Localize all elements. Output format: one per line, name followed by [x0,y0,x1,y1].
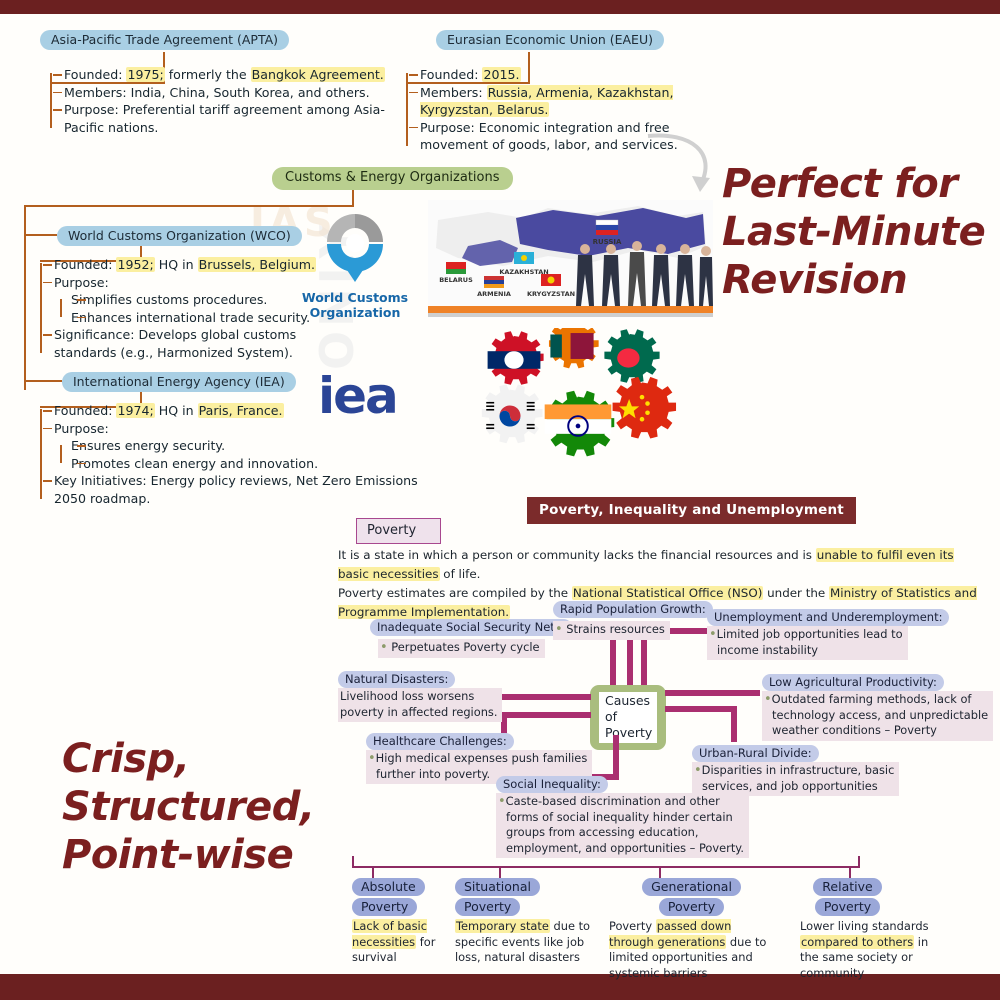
customs-energy-left-rail [24,205,26,390]
iea-line-key-initiatives: Key Initiatives: Energy policy reviews, … [54,472,420,507]
cause-label-unemployment: Unemployment and Underemployment: [707,609,949,626]
iea-vertical-rail [40,409,42,499]
top-border-bar [0,0,1000,14]
mindmap-line-healthcare-h [501,712,591,718]
wco-logo-image: World Customs Organization [292,212,418,324]
apta-flag-gears-image [452,328,682,476]
type-desc-situational: Temporary state due to specific events l… [455,919,595,966]
apta-line-purpose: Purpose: Preferential tariff agreement a… [64,101,400,136]
type-desc-absolute: Lack of basic necessities for survival [352,919,472,966]
eaeu-line-founded: Founded: 2015. [420,66,720,84]
type-title-situational-l1: Situational [455,878,540,896]
apta-former-name: Bangkok Agreement. [251,67,385,82]
bullet-icon: • [555,622,563,637]
center-node-line-1: Causes of [605,693,651,725]
customs-energy-horizontal [24,205,354,207]
org-block-apta: Asia-Pacific Trade Agreement (APTA) Foun… [40,30,400,136]
iea-title-pill: International Energy Agency (IEA) [62,371,296,392]
eaeu-title-pill: Eurasian Economic Union (EAEU) [436,30,720,50]
poverty-tag-label: Poverty [367,523,416,538]
cause-body-low-agri: •Outdated farming methods, lack of techn… [762,691,993,741]
bullet-icon: • [380,640,388,655]
apta-line-founded: Founded: 1975; formerly the Bangkok Agre… [64,66,400,84]
iea-title-label: International Energy Agency (IEA) [62,372,296,392]
iea-logo-image: iea [318,370,430,422]
eaeu-title-label: Eurasian Economic Union (EAEU) [436,30,664,50]
type-title-relative-l2: Poverty [815,898,880,916]
type-desc-relative: Lower living standards compared to other… [800,919,950,981]
eaeu-map-graphic: RUSSIA BELARUS KAZAKHSTAN ARMENIA KRYGYZ… [428,200,713,318]
slogan-tr-line-1: Perfect for [722,160,992,208]
types-bus-right-cap [858,856,860,867]
cause-unemployment-and-underemployment: Unemployment and Underemployment: •Limit… [707,606,949,660]
svg-text:ARMENIA: ARMENIA [477,290,511,298]
poverty-type-absolute: Absolute Poverty Lack of basic necessiti… [352,876,472,966]
cause-body-rapid-population: • Strains resources [553,621,670,640]
slogan-last-minute-revision: Perfect for Last-Minute Revision [722,160,992,304]
types-bus-horizontal [352,866,860,868]
wco-branch-horizontal [24,234,57,236]
mindmap-line-natural-disasters [488,694,591,700]
customs-energy-header-label: Customs & Energy Organizations [272,167,513,190]
bullet-icon: • [709,627,717,642]
wco-logo-line-2: Organization [292,305,418,320]
type-desc-situational-highlight: Temporary state [455,919,550,933]
cause-social-inequality: Social Inequality: •Caste-based discrimi… [496,773,749,858]
cause-label-healthcare: Healthcare Challenges: [366,733,514,750]
type-title-generational-l2: Poverty [659,898,724,916]
poverty-definition-p1: It is a state in which a person or commu… [338,546,986,584]
poverty-type-relative: Relative Poverty Lower living standards … [800,876,950,981]
poverty-type-situational: Situational Poverty Temporary state due … [455,876,595,966]
cause-low-agricultural-productivity: Low Agricultural Productivity: •Outdated… [762,671,993,741]
slogan-tr-line-2: Last-Minute [722,208,992,256]
apta-founded-year: 1975; [126,67,164,82]
bullet-icon: • [368,751,376,766]
apta-gears-graphic [452,328,682,476]
mindmap-line-low-agri [665,690,760,696]
eaeu-map-photo: RUSSIA BELARUS KAZAKHSTAN ARMENIA KRYGYZ… [428,200,713,318]
cause-body-inadequate: • Perpetuates Poverty cycle [378,639,545,658]
center-node-line-2: Poverty [605,725,651,741]
type-desc-generational: Poverty passed down through generations … [609,919,774,981]
iea-founded-year: 1974; [116,403,154,418]
curved-arrow-icon [640,130,730,200]
apta-title-pill: Asia-Pacific Trade Agreement (APTA) [40,30,400,50]
svg-text:RUSSIA: RUSSIA [593,238,622,246]
cause-label-urban-rural: Urban-Rural Divide: [692,745,819,762]
slogan-tr-line-3: Revision [722,256,992,304]
svg-text:KRYGYZSTAN: KRYGYZSTAN [527,290,575,298]
causes-of-poverty-center-node: Causes of Poverty [590,685,666,750]
cause-body-social-inequality: •Caste-based discrimination and other fo… [496,793,749,858]
customs-energy-header: Customs & Energy Organizations [272,166,513,190]
wco-title-pill: World Customs Organization (WCO) [57,225,302,246]
wco-founded-year: 1952; [116,257,154,272]
eaeu-founded-year: 2015. [482,67,520,82]
eaeu-line-members: Members: Russia, Armenia, Kazakhstan, Ky… [420,84,720,119]
poverty-tag-box: Poverty [356,518,441,544]
types-bus-left-cap [352,856,354,867]
iea-hq: Paris, France. [198,403,284,418]
customs-energy-stem [352,190,354,206]
cause-natural-disasters: Natural Disasters: Livelihood loss worse… [338,668,502,722]
poverty-section-banner: Poverty, Inequality and Unemployment [527,497,856,524]
bullet-icon: • [764,692,772,707]
type-title-generational-l1: Generational [642,878,741,896]
cause-body-natural-disasters: Livelihood loss worsens poverty in affec… [338,688,502,722]
apta-detail-lines: Founded: 1975; formerly the Bangkok Agre… [50,66,400,136]
poverty-type-generational: Generational Poverty Poverty passed down… [609,876,774,981]
type-title-situational-l2: Poverty [455,898,520,916]
mindmap-line-urban-rural-v [731,706,737,742]
wco-line-significance: Significance: Develops global customs st… [54,326,350,361]
mindmap-line-urban-rural-h [665,706,737,712]
iea-branch-horizontal [24,380,62,382]
slogan-crisp-structured: Crisp, Structured, Point-wise [62,735,352,879]
iea-logo-text: iea [318,370,430,422]
type-title-relative-l1: Relative [813,878,881,896]
iea-purpose-sub-1: Ensures energy security. [71,437,420,455]
poverty-banner-label: Poverty, Inequality and Unemployment [539,502,844,518]
cause-label-natural-disasters: Natural Disasters: [338,671,455,688]
type-title-absolute-l1: Absolute [352,878,425,896]
slogan-bl-line-2: Structured, [62,783,352,831]
apta-vertical-rail [50,73,52,128]
wco-vertical-rail [40,263,42,353]
center-node-inner: Causes of Poverty [599,692,657,743]
cause-body-unemployment: •Limited job opportunities lead to incom… [707,626,908,660]
cause-label-rapid-population: Rapid Population Growth: [553,601,713,618]
cause-rapid-population-growth: Rapid Population Growth: • Strains resou… [553,598,713,640]
apta-line-members: Members: India, China, South Korea, and … [64,84,400,102]
cause-inadequate-social-security-nets: Inadequate Social Security Nets: • Perpe… [370,616,572,658]
cause-label-social-inequality: Social Inequality: [496,776,608,793]
apta-title-label: Asia-Pacific Trade Agreement (APTA) [40,30,289,50]
slogan-bl-line-1: Crisp, [62,735,352,783]
wco-logo-icon [313,212,397,284]
bullet-icon: • [498,794,506,809]
eaeu-vertical-rail [406,73,408,146]
type-title-absolute-l2: Poverty [352,898,417,916]
iea-purpose-sub-2: Promotes clean energy and innovation. [71,455,420,473]
svg-text:BELARUS: BELARUS [439,276,473,284]
wco-logo-line-1: World Customs [292,290,418,305]
infographic-page: ONLY IAS Asia-Pacific Trade Agreement (A… [0,0,1000,1000]
cause-label-inadequate: Inadequate Social Security Nets: [370,619,572,636]
wco-title-label: World Customs Organization (WCO) [57,226,302,246]
type-desc-relative-highlight: compared to others [800,935,914,949]
cause-label-low-agri: Low Agricultural Productivity: [762,674,944,691]
slogan-bl-line-3: Point-wise [62,831,352,879]
